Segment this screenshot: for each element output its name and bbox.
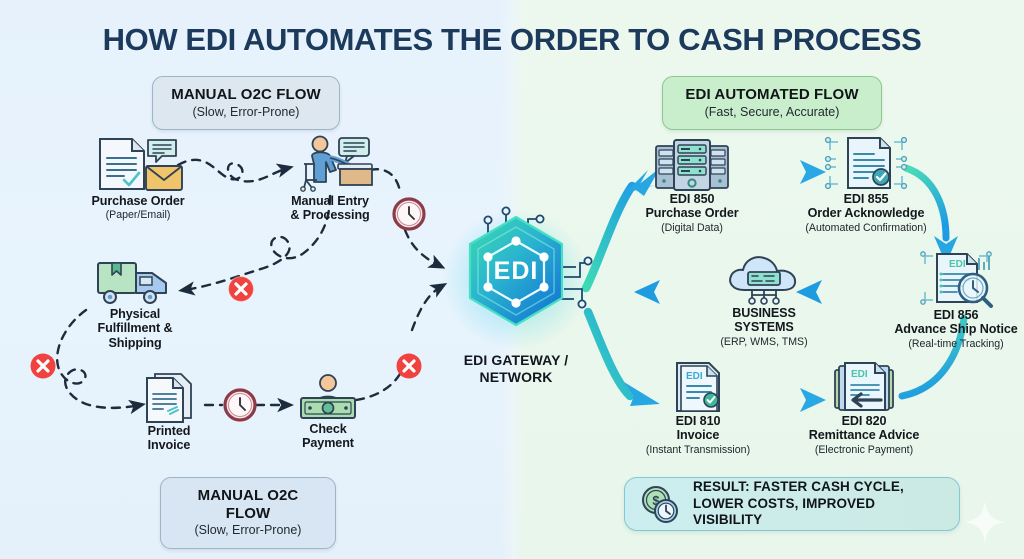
- badge-title: MANUAL O2C FLOW: [171, 86, 321, 104]
- node-edi-855[interactable]: EDI 855 Order Acknowledge (Automated Con…: [790, 134, 942, 234]
- node-edi-820[interactable]: EDI EDI 820 Remittance Advice (Electroni…: [796, 360, 932, 456]
- edi-flow-badge: EDI AUTOMATED FLOW (Fast, Secure, Accura…: [662, 76, 882, 130]
- node-title-line1: Physical: [72, 307, 198, 321]
- page-title: HOW EDI AUTOMATES THE ORDER TO CASH PROC…: [0, 22, 1024, 58]
- node-edi-850[interactable]: EDI 850 Purchase Order (Digital Data): [626, 138, 758, 234]
- node-title-line1: EDI 810: [634, 414, 762, 428]
- gateway-label-line2: NETWORK: [479, 369, 552, 385]
- paper-document-envelope-icon: [70, 136, 206, 194]
- node-printed-invoice[interactable]: Printed Invoice: [122, 370, 216, 453]
- node-title-line1: BUSINESS: [700, 306, 828, 320]
- node-check-payment[interactable]: Check Payment: [286, 372, 370, 451]
- node-edi-856[interactable]: EDI EDI 856 Advance Ship Notice (Real-ti…: [886, 250, 1024, 350]
- delivery-truck-icon: [72, 255, 198, 307]
- badge-title: EDI AUTOMATED FLOW: [681, 86, 863, 104]
- coin-clock-icon: $: [639, 484, 681, 524]
- node-title-line1: Printed: [122, 424, 216, 438]
- node-subtitle: (Instant Transmission): [634, 444, 762, 456]
- gateway-label: EDI GATEWAY / NETWORK: [430, 352, 602, 386]
- node-title-line2: SYSTEMS: [700, 320, 828, 334]
- node-title-line1: EDI 855: [790, 192, 942, 206]
- node-physical-fulfillment[interactable]: Physical Fulfillment & Shipping: [72, 255, 198, 350]
- node-title-line1: Manual Entry: [264, 194, 396, 208]
- node-title-line2: Remittance Advice: [796, 428, 932, 442]
- node-title-line1: Check: [286, 422, 370, 436]
- document-magnifier-clock-icon: EDI: [886, 250, 1024, 308]
- node-title-line1: EDI 820: [796, 414, 932, 428]
- svg-text:EDI: EDI: [949, 259, 966, 270]
- node-manual-entry[interactable]: Manual Entry & Processing: [264, 132, 396, 223]
- badge-title: MANUAL O2C FLOW: [179, 487, 317, 522]
- node-subtitle: (ERP, WMS, TMS): [700, 336, 828, 348]
- node-title-line2: Invoice: [634, 428, 762, 442]
- result-text: RESULT: FASTER CASH CYCLE, LOWER COSTS, …: [693, 479, 945, 530]
- node-subtitle: (Real-time Tracking): [886, 338, 1024, 350]
- result-line2: LOWER COSTS, IMPROVED VISIBILITY: [693, 496, 875, 528]
- manual-flow-badge-top: MANUAL O2C FLOW (Slow, Error-Prone): [152, 76, 340, 130]
- node-edi-810[interactable]: EDI EDI 810 Invoice (Instant Transmissio…: [634, 360, 762, 456]
- node-business-systems[interactable]: BUSINESS SYSTEMS (ERP, WMS, TMS): [700, 252, 828, 348]
- node-title-line2: Purchase Order: [626, 206, 758, 220]
- edi-hexagon-icon: EDI: [440, 205, 592, 355]
- document-check-circuit-icon: [790, 134, 942, 192]
- edi-gateway-node[interactable]: EDI: [440, 205, 592, 355]
- printed-invoice-icon: [122, 370, 216, 424]
- node-subtitle: (Electronic Payment): [796, 444, 932, 456]
- badge-subtitle: (Slow, Error-Prone): [171, 105, 321, 120]
- edi-hexagon-label: EDI: [494, 257, 539, 285]
- manual-flow-badge-bottom: MANUAL O2C FLOW (Slow, Error-Prone): [160, 477, 336, 549]
- node-subtitle: (Paper/Email): [70, 209, 206, 221]
- gateway-label-line1: EDI GATEWAY /: [464, 352, 569, 368]
- badge-subtitle: (Fast, Secure, Accurate): [681, 105, 863, 120]
- node-title-line2: Fulfillment &: [72, 321, 198, 335]
- sparkle-decoration: [962, 499, 1008, 545]
- node-title-line3: Shipping: [72, 336, 198, 350]
- cloud-server-icon: [700, 252, 828, 306]
- banknote-person-icon: [286, 372, 370, 422]
- node-purchase-order[interactable]: Purchase Order (Paper/Email): [70, 136, 206, 222]
- svg-text:EDI: EDI: [686, 371, 703, 382]
- server-rack-icon: [626, 138, 758, 192]
- infographic-canvas: HOW EDI AUTOMATES THE ORDER TO CASH PROC…: [0, 0, 1024, 559]
- result-line1: RESULT: FASTER CASH CYCLE,: [693, 479, 904, 494]
- person-at-desk-icon: [264, 132, 396, 194]
- edi-invoice-check-icon: EDI: [634, 360, 762, 414]
- node-subtitle: (Digital Data): [626, 222, 758, 234]
- node-title-line2: Invoice: [122, 438, 216, 452]
- svg-text:EDI: EDI: [851, 369, 868, 380]
- badge-subtitle: (Slow, Error-Prone): [179, 523, 317, 538]
- node-title: Purchase Order: [70, 194, 206, 208]
- edi-remittance-arrow-icon: EDI: [796, 360, 932, 414]
- node-title-line1: EDI 856: [886, 308, 1024, 322]
- node-subtitle: (Automated Confirmation): [790, 222, 942, 234]
- node-title-line1: EDI 850: [626, 192, 758, 206]
- node-title-line2: Payment: [286, 436, 370, 450]
- node-title-line2: & Processing: [264, 208, 396, 222]
- node-title-line2: Advance Ship Notice: [886, 322, 1024, 336]
- result-banner: $ RESULT: FASTER CASH CYCLE, LOWER COSTS…: [624, 477, 960, 531]
- node-title-line2: Order Acknowledge: [790, 206, 942, 220]
